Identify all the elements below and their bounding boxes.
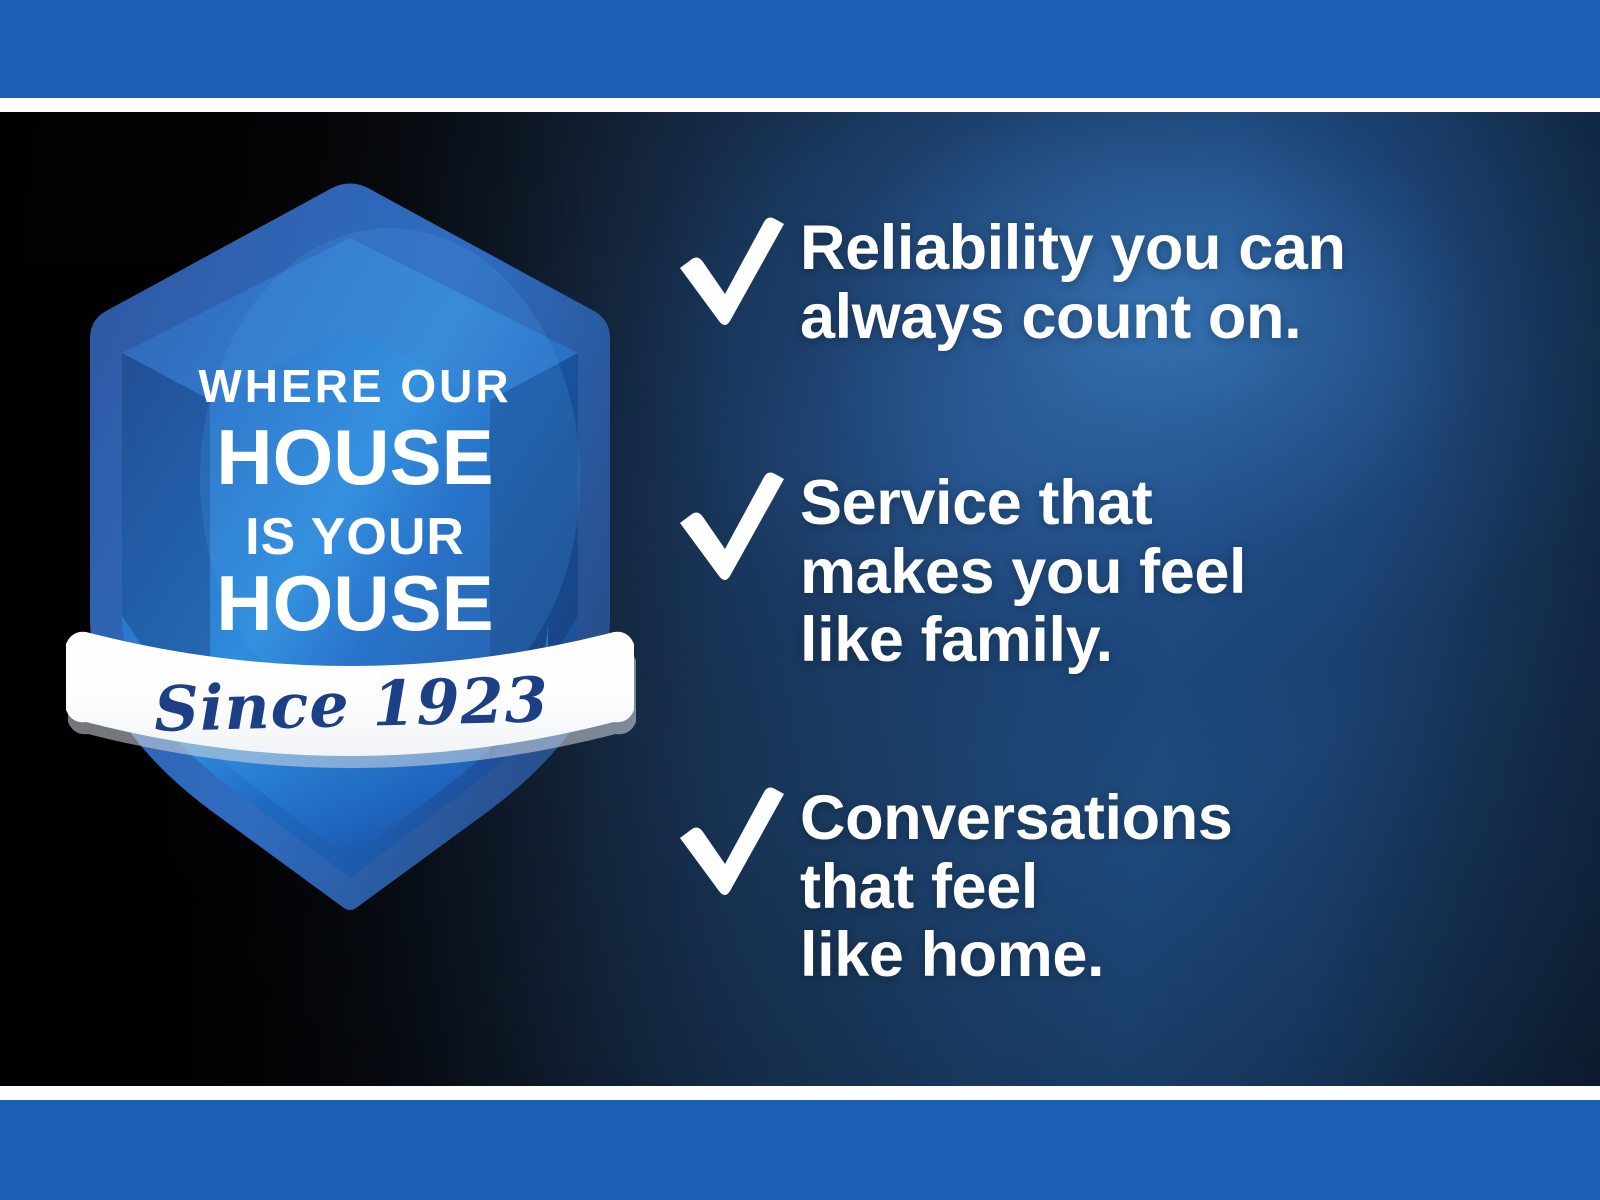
bottom-brand-bar	[0, 1100, 1600, 1200]
bottom-white-divider	[0, 1086, 1600, 1100]
promo-graphic: WHERE OUR HOUSE IS YOUR HOUSE Since 1923…	[0, 0, 1600, 1200]
benefit-item-reliability: Reliability you can always count on.	[668, 212, 1346, 351]
checkmark-icon	[668, 786, 786, 896]
benefit-item-conversations: Conversations that feel like home.	[668, 782, 1232, 990]
logo-tagline-line3: IS YOUR	[245, 508, 465, 566]
logo-tagline-line1: WHERE OUR	[198, 360, 511, 412]
benefit-text: Service that makes you feel like family.	[800, 467, 1246, 675]
logo-tagline-line4: HOUSE	[216, 559, 493, 647]
logo-since-text: Since 1923	[153, 663, 549, 746]
checkmark-icon	[668, 216, 786, 326]
shield-badge-icon: WHERE OUR HOUSE IS YOUR HOUSE Since 1923	[60, 148, 640, 828]
benefits-list: Reliability you can always count on. Ser…	[668, 112, 1568, 1086]
benefit-item-service: Service that makes you feel like family.	[668, 467, 1246, 675]
benefit-text: Conversations that feel like home.	[800, 782, 1232, 990]
logo-tagline-line2: HOUSE	[216, 413, 493, 501]
checkmark-icon	[668, 471, 786, 581]
top-white-divider	[0, 98, 1600, 112]
top-brand-bar	[0, 0, 1600, 98]
benefit-text: Reliability you can always count on.	[800, 212, 1346, 351]
